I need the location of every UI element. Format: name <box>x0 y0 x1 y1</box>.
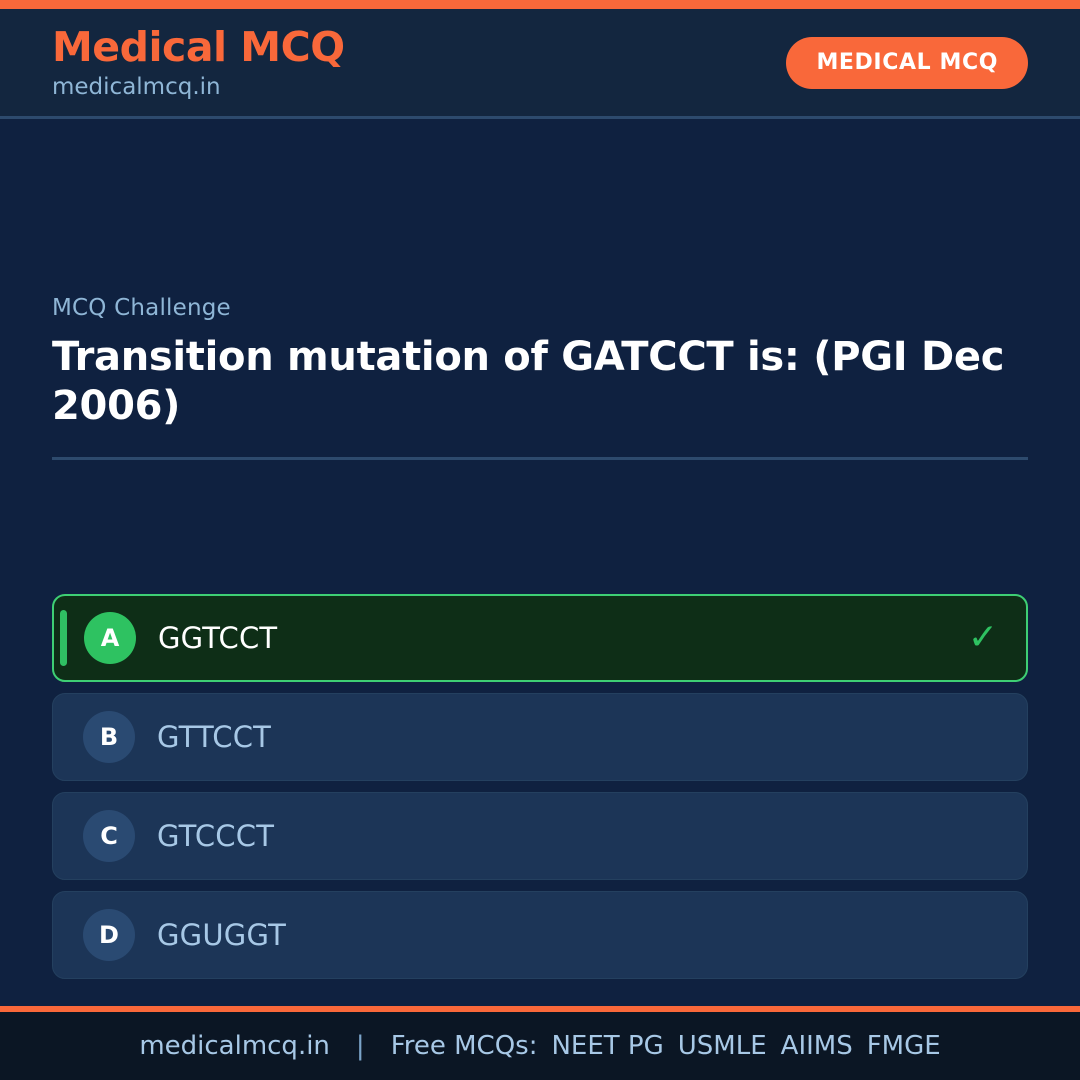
option-d-letter: D <box>83 909 135 961</box>
option-b-letter: B <box>83 711 135 763</box>
option-c[interactable]: C GTCCCT <box>52 792 1028 880</box>
option-a-text: GGTCCT <box>158 621 277 655</box>
footer-separator: | <box>356 1031 365 1061</box>
brand-title: Medical MCQ <box>52 27 345 68</box>
correct-accent-bar <box>60 610 67 666</box>
option-c-text: GTCCCT <box>157 819 274 853</box>
brand-subtitle: medicalmcq.in <box>52 76 345 99</box>
question-divider <box>52 457 1028 460</box>
top-accent-bar <box>0 0 1080 9</box>
option-a[interactable]: A GGTCCT ✓ <box>52 594 1028 682</box>
footer-label: Free MCQs: <box>391 1031 538 1061</box>
option-a-letter: A <box>84 612 136 664</box>
option-b[interactable]: B GTTCCT <box>52 693 1028 781</box>
question-block: MCQ Challenge Transition mutation of GAT… <box>52 295 1028 460</box>
footer-exam-fmge[interactable]: FMGE <box>867 1031 941 1061</box>
options-list: A GGTCCT ✓ B GTTCCT C GTCCCT D GGUGGT <box>52 594 1028 979</box>
footer-site-link[interactable]: medicalmcq.in <box>139 1031 330 1061</box>
footer-exam-aiims[interactable]: AIIMS <box>781 1031 853 1061</box>
footer: medicalmcq.in | Free MCQs: NEET PG USMLE… <box>0 1006 1080 1080</box>
footer-exam-neet-pg[interactable]: NEET PG <box>551 1031 663 1061</box>
option-d-text: GGUGGT <box>157 918 286 952</box>
check-icon: ✓ <box>968 620 998 656</box>
main-content: MCQ Challenge Transition mutation of GAT… <box>0 119 1080 1006</box>
option-d[interactable]: D GGUGGT <box>52 891 1028 979</box>
question-eyebrow: MCQ Challenge <box>52 295 1028 321</box>
option-c-letter: C <box>83 810 135 862</box>
question-title: Transition mutation of GATCCT is: (PGI D… <box>52 333 1028 431</box>
footer-exam-usmle[interactable]: USMLE <box>678 1031 767 1061</box>
option-b-text: GTTCCT <box>157 720 271 754</box>
header: Medical MCQ medicalmcq.in MEDICAL MCQ <box>0 9 1080 119</box>
header-badge: MEDICAL MCQ <box>786 37 1028 89</box>
brand: Medical MCQ medicalmcq.in <box>52 27 345 99</box>
mcq-card: Medical MCQ medicalmcq.in MEDICAL MCQ MC… <box>0 0 1080 1080</box>
footer-content: medicalmcq.in | Free MCQs: NEET PG USMLE… <box>139 1031 940 1061</box>
